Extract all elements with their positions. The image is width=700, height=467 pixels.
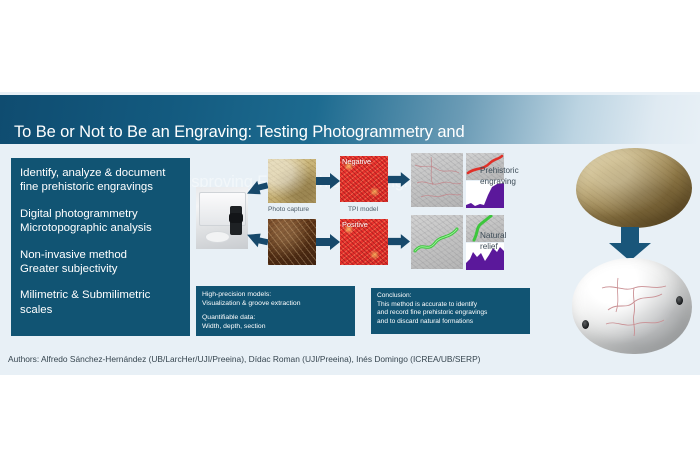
microscope-base (205, 231, 230, 243)
results-block-1: High-precision models: Visualization & g… (202, 291, 349, 308)
label-prehistoric-engraving: Prehistoric engraving (480, 166, 519, 187)
right-arrow-icon (246, 231, 268, 251)
conclusion-text: Conclusion: This method is accurate to i… (377, 292, 524, 326)
right-arrow-icon (316, 234, 340, 250)
conclusion-box: Conclusion: This method is accurate to i… (371, 288, 530, 334)
photo-capture-positive-tile (268, 219, 316, 265)
dem-engraving-tile (411, 153, 463, 207)
key-point-1: Identify, analyze & document fine prehis… (20, 166, 181, 195)
poster-canvas: To Be or Not to Be an Engraving: Testing… (0, 0, 700, 467)
workflow-diagram: Photo capture Negative TPI model Positiv… (196, 153, 496, 283)
tpi-positive-label: Positive (342, 220, 368, 229)
right-arrow-icon (316, 173, 340, 189)
photo-capture-caption: Photo capture (268, 206, 309, 213)
down-arrow-icon (608, 227, 652, 261)
engraving-traces (411, 153, 463, 207)
key-point-2: Digital photogrammetry Microtopographic … (20, 207, 181, 236)
photo-capture-negative-tile (268, 159, 316, 203)
results-box: High-precision models: Visualization & g… (196, 286, 355, 336)
authors-line: Authors: Alfredo Sánchez-Hernández (UB/L… (8, 354, 480, 364)
results-block-2: Quantifiable data: Width, depth, section (202, 314, 349, 331)
dem-natural-tile (411, 215, 463, 269)
title-line-1: To Be or Not to Be an Engraving: Testing… (14, 120, 634, 145)
engraved-lines (572, 258, 692, 354)
microscope-icon (196, 187, 248, 249)
page-title: To Be or Not to Be an Engraving: Testing… (14, 95, 634, 147)
perforation-hole (676, 296, 683, 305)
key-point-4: Milimetric & Submilimetric scales (20, 288, 181, 317)
key-point-3: Non-invasive method Greater subjectivity (20, 248, 181, 277)
perforation-hole (582, 320, 589, 329)
right-arrow-icon (246, 177, 268, 197)
key-points-panel: Identify, analyze & document fine prehis… (11, 158, 190, 336)
right-arrow-icon (388, 234, 410, 249)
engraved-pebble-photo (572, 258, 692, 354)
tpi-model-caption: TPI model (348, 206, 378, 213)
natural-relief-traces (411, 215, 463, 269)
tpi-negative-label: Negative (342, 157, 371, 166)
microscope-head (229, 213, 244, 223)
right-arrow-icon (388, 172, 410, 187)
weathered-pebble-photo (576, 148, 692, 228)
label-natural-relief: Natural relief (480, 231, 506, 252)
